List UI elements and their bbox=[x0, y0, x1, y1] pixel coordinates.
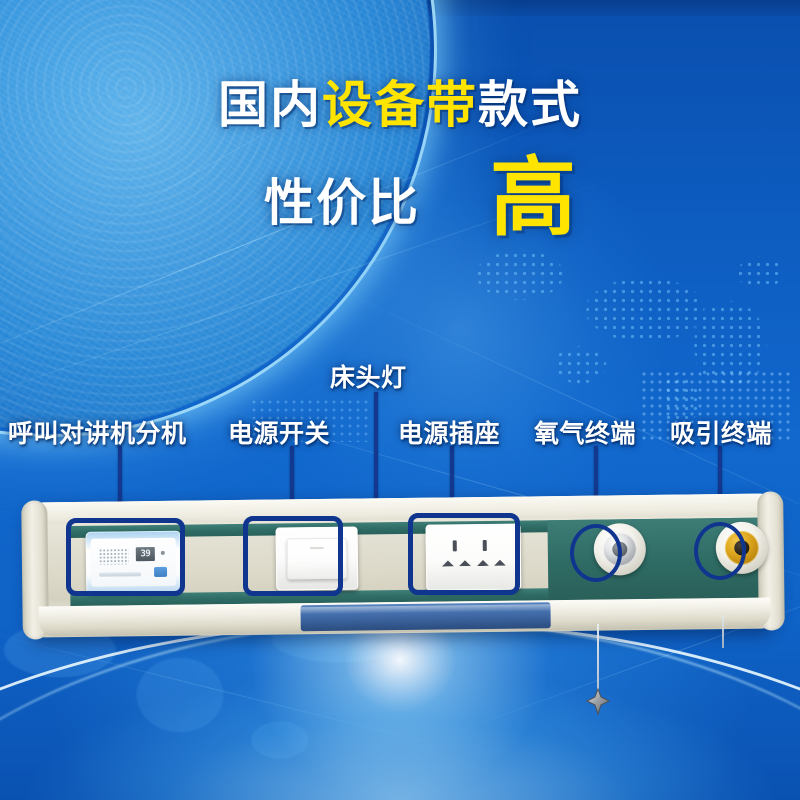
callout-label-suction: 吸引终端 bbox=[670, 414, 772, 450]
callout-label-intercom: 呼叫对讲机分机 bbox=[8, 414, 187, 450]
callout-label-oxygen: 氧气终端 bbox=[534, 414, 636, 450]
highlight-box-suction[interactable] bbox=[694, 522, 746, 580]
highlight-box-oxygen[interactable] bbox=[570, 524, 622, 582]
highlight-box-power-socket[interactable] bbox=[408, 513, 520, 595]
highlight-box-power-switch[interactable] bbox=[243, 516, 343, 596]
callout-label-power-socket: 电源插座 bbox=[398, 414, 500, 450]
callout-label-group: 呼叫对讲机分机 电源开关 床头灯 电源插座 氧气终端 吸引终端 bbox=[0, 0, 800, 800]
highlight-box-intercom[interactable] bbox=[66, 518, 185, 596]
callout-label-power-switch: 电源开关 bbox=[228, 414, 330, 450]
callout-label-bedside-lamp: 床头灯 bbox=[330, 358, 407, 394]
